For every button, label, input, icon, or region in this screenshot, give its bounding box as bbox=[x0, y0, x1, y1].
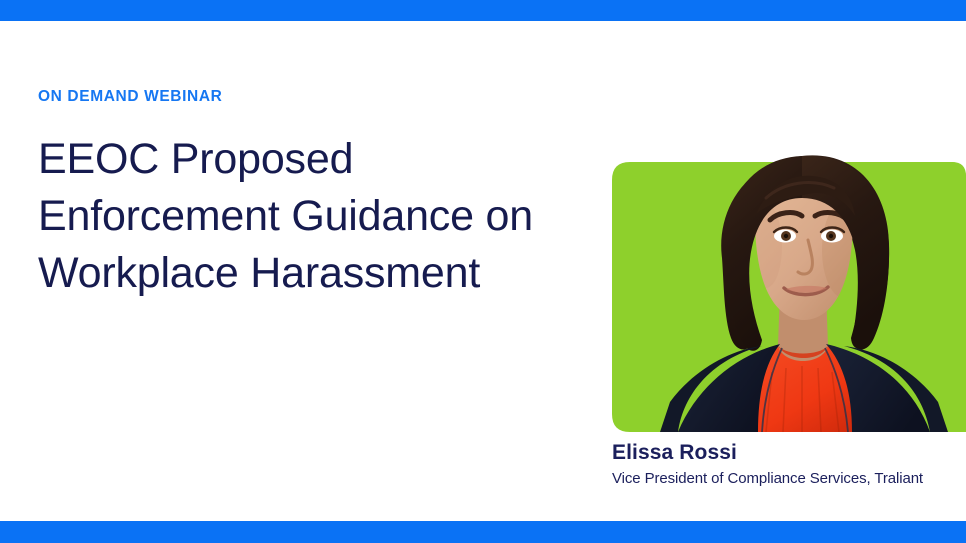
headline-copy-block: ON DEMAND WEBINAR EEOC Proposed Enforcem… bbox=[38, 88, 578, 302]
eyebrow-label: ON DEMAND WEBINAR bbox=[38, 88, 578, 105]
speaker-name: Elissa Rossi bbox=[612, 440, 966, 466]
webinar-promo-card: ON DEMAND WEBINAR EEOC Proposed Enforcem… bbox=[0, 0, 966, 543]
speaker-block: Elissa Rossi Vice President of Complianc… bbox=[612, 140, 966, 502]
bottom-accent-bar bbox=[0, 521, 966, 543]
page-title: EEOC Proposed Enforcement Guidance on Wo… bbox=[38, 131, 578, 302]
speaker-title: Vice President of Compliance Services, T… bbox=[612, 469, 966, 489]
speaker-portrait-image bbox=[612, 140, 966, 432]
speaker-photo-backdrop bbox=[612, 162, 966, 432]
speaker-meta: Elissa Rossi Vice President of Complianc… bbox=[612, 440, 966, 489]
top-accent-bar bbox=[0, 0, 966, 21]
